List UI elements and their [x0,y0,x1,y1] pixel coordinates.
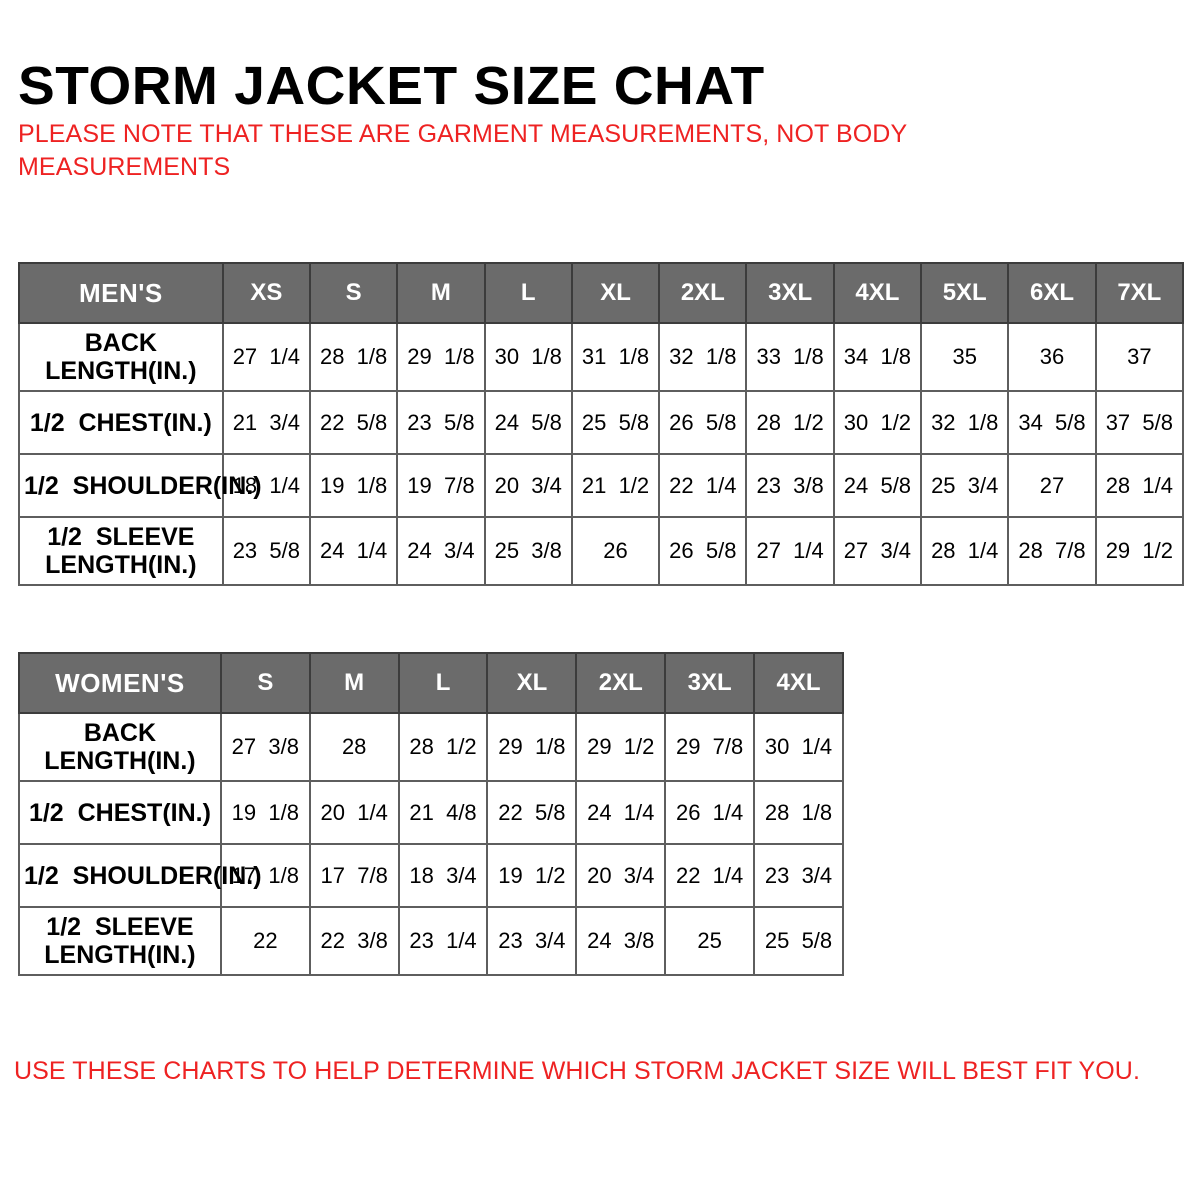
mens-header-row: MEN'SXSSMLXL2XL3XL4XL5XL6XL7XL [19,263,1183,323]
mens-column-header-5xl: 5XL [921,263,1008,323]
womens-table-header: WOMEN'SSMLXL2XL3XL4XL [19,653,843,713]
womens-row-label: BACKLENGTH(IN.) [19,713,221,781]
womens-column-header-xl: XL [487,653,576,713]
fit-guidance-note: USE THESE CHARTS TO HELP DETERMINE WHICH… [14,1055,1184,1088]
measurement-cell: 23 1/4 [399,907,488,975]
womens-row-label: 1/2 CHEST(IN.) [19,781,221,844]
mens-column-header-4xl: 4XL [834,263,921,323]
measurement-cell: 23 3/4 [487,907,576,975]
mens-table-header: MEN'SXSSMLXL2XL3XL4XL5XL6XL7XL [19,263,1183,323]
measurement-cell: 28 1/8 [754,781,843,844]
measurement-cell: 30 1/8 [485,323,572,391]
womens-corner-label: WOMEN'S [19,653,221,713]
measurement-cell: 17 1/8 [221,844,310,907]
measurement-cell: 27 3/4 [834,517,921,585]
measurement-cell: 20 3/4 [576,844,665,907]
table-row: BACKLENGTH(IN.)27 3/82828 1/229 1/829 1/… [19,713,843,781]
measurement-cell: 17 7/8 [310,844,399,907]
mens-table-body: BACKLENGTH(IN.)27 1/428 1/829 1/830 1/83… [19,323,1183,585]
mens-size-table: MEN'SXSSMLXL2XL3XL4XL5XL6XL7XL BACKLENGT… [18,262,1184,586]
measurement-cell: 25 3/4 [921,454,1008,517]
mens-corner-label: MEN'S [19,263,223,323]
womens-column-header-l: L [399,653,488,713]
measurement-cell: 29 1/2 [576,713,665,781]
measurement-cell: 21 1/2 [572,454,659,517]
table-row: 1/2 SHOULDER(IN.)17 1/817 7/818 3/419 1/… [19,844,843,907]
mens-column-header-m: M [397,263,484,323]
measurement-cell: 29 1/8 [397,323,484,391]
table-row: BACKLENGTH(IN.)27 1/428 1/829 1/830 1/83… [19,323,1183,391]
mens-row-label: 1/2 SHOULDER(IN.) [19,454,223,517]
measurement-cell: 22 5/8 [487,781,576,844]
measurement-cell: 24 3/8 [576,907,665,975]
measurement-cell: 24 5/8 [834,454,921,517]
table-row: 1/2 CHEST(IN.)21 3/422 5/823 5/824 5/825… [19,391,1183,454]
mens-column-header-l: L [485,263,572,323]
measurement-cell: 37 [1096,323,1183,391]
measurement-cell: 21 3/4 [223,391,310,454]
womens-column-header-m: M [310,653,399,713]
measurement-cell: 26 1/4 [665,781,754,844]
measurement-cell: 27 1/4 [746,517,833,585]
mens-column-header-2xl: 2XL [659,263,746,323]
measurement-cell: 31 1/8 [572,323,659,391]
mens-column-header-xs: XS [223,263,310,323]
womens-column-header-s: S [221,653,310,713]
measurement-cell: 23 5/8 [397,391,484,454]
measurement-cell: 32 1/8 [921,391,1008,454]
womens-row-label: 1/2 SHOULDER(IN.) [19,844,221,907]
womens-table-body: BACKLENGTH(IN.)27 3/82828 1/229 1/829 1/… [19,713,843,975]
measurement-cell: 37 5/8 [1096,391,1183,454]
garment-measurement-note: PLEASE NOTE THAT THESE ARE GARMENT MEASU… [18,118,1018,184]
measurement-cell: 25 [665,907,754,975]
womens-size-table: WOMEN'SSMLXL2XL3XL4XL BACKLENGTH(IN.)27 … [18,652,844,976]
measurement-cell: 26 5/8 [659,517,746,585]
measurement-cell: 30 1/2 [834,391,921,454]
mens-row-label: BACKLENGTH(IN.) [19,323,223,391]
table-row: 1/2 SHOULDER(IN.)18 1/419 1/819 7/820 3/… [19,454,1183,517]
measurement-cell: 24 3/4 [397,517,484,585]
measurement-cell: 28 1/4 [921,517,1008,585]
mens-column-header-7xl: 7XL [1096,263,1183,323]
measurement-cell: 24 1/4 [310,517,397,585]
measurement-cell: 23 5/8 [223,517,310,585]
table-row: 1/2 SLEEVELENGTH(IN.)23 5/824 1/424 3/42… [19,517,1183,585]
measurement-cell: 30 1/4 [754,713,843,781]
measurement-cell: 23 3/8 [746,454,833,517]
measurement-cell: 25 5/8 [754,907,843,975]
measurement-cell: 28 1/2 [746,391,833,454]
measurement-cell: 24 5/8 [485,391,572,454]
table-row: 1/2 CHEST(IN.)19 1/820 1/421 4/822 5/824… [19,781,843,844]
measurement-cell: 34 1/8 [834,323,921,391]
womens-column-header-2xl: 2XL [576,653,665,713]
measurement-cell: 36 [1008,323,1095,391]
measurement-cell: 18 3/4 [399,844,488,907]
mens-column-header-s: S [310,263,397,323]
measurement-cell: 28 [310,713,399,781]
size-chart-page: STORM JACKET SIZE CHAT PLEASE NOTE THAT … [0,0,1200,1200]
measurement-cell: 19 1/2 [487,844,576,907]
measurement-cell: 34 5/8 [1008,391,1095,454]
womens-column-header-3xl: 3XL [665,653,754,713]
measurement-cell: 35 [921,323,1008,391]
measurement-cell: 27 3/8 [221,713,310,781]
measurement-cell: 19 7/8 [397,454,484,517]
measurement-cell: 26 [572,517,659,585]
measurement-cell: 28 1/2 [399,713,488,781]
measurement-cell: 28 1/8 [310,323,397,391]
measurement-cell: 19 1/8 [310,454,397,517]
mens-row-label: 1/2 SLEEVELENGTH(IN.) [19,517,223,585]
measurement-cell: 25 3/8 [485,517,572,585]
womens-row-label: 1/2 SLEEVELENGTH(IN.) [19,907,221,975]
mens-column-header-xl: XL [572,263,659,323]
measurement-cell: 20 1/4 [310,781,399,844]
measurement-cell: 22 5/8 [310,391,397,454]
measurement-cell: 22 1/4 [659,454,746,517]
measurement-cell: 24 1/4 [576,781,665,844]
page-title: STORM JACKET SIZE CHAT [18,58,765,115]
measurement-cell: 29 1/8 [487,713,576,781]
measurement-cell: 20 3/4 [485,454,572,517]
measurement-cell: 32 1/8 [659,323,746,391]
measurement-cell: 29 7/8 [665,713,754,781]
mens-row-label: 1/2 CHEST(IN.) [19,391,223,454]
measurement-cell: 33 1/8 [746,323,833,391]
measurement-cell: 21 4/8 [399,781,488,844]
measurement-cell: 27 1/4 [223,323,310,391]
measurement-cell: 26 5/8 [659,391,746,454]
measurement-cell: 22 3/8 [310,907,399,975]
measurement-cell: 22 [221,907,310,975]
measurement-cell: 18 1/4 [223,454,310,517]
measurement-cell: 19 1/8 [221,781,310,844]
measurement-cell: 28 1/4 [1096,454,1183,517]
mens-column-header-6xl: 6XL [1008,263,1095,323]
table-row: 1/2 SLEEVELENGTH(IN.)2222 3/823 1/423 3/… [19,907,843,975]
womens-header-row: WOMEN'SSMLXL2XL3XL4XL [19,653,843,713]
measurement-cell: 29 1/2 [1096,517,1183,585]
measurement-cell: 28 7/8 [1008,517,1095,585]
measurement-cell: 25 5/8 [572,391,659,454]
womens-column-header-4xl: 4XL [754,653,843,713]
mens-column-header-3xl: 3XL [746,263,833,323]
measurement-cell: 27 [1008,454,1095,517]
measurement-cell: 22 1/4 [665,844,754,907]
measurement-cell: 23 3/4 [754,844,843,907]
